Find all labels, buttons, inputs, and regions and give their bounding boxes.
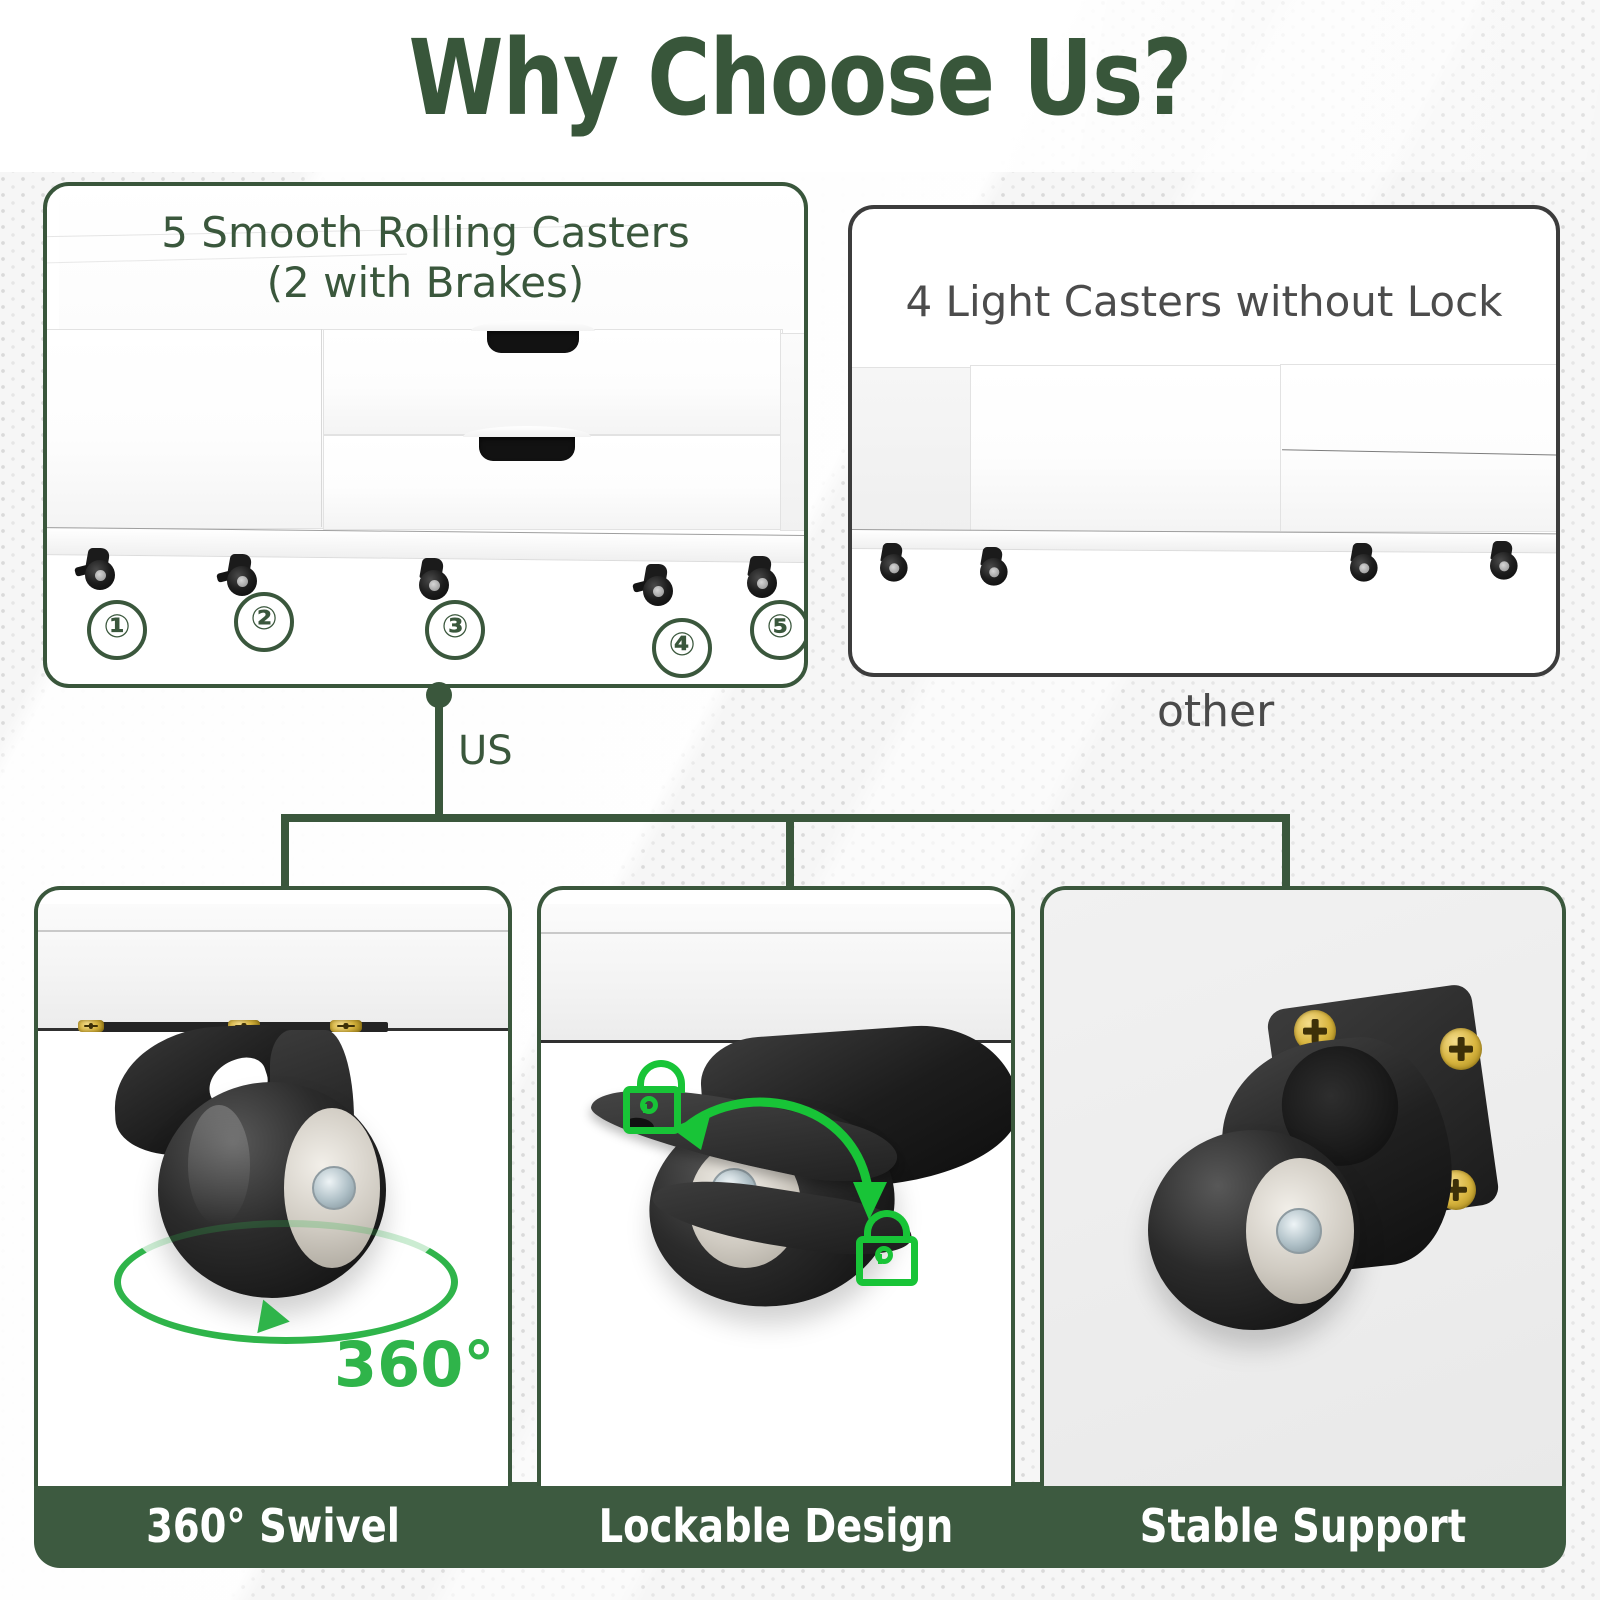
furniture-underside (34, 904, 512, 1031)
other-comparison-panel: 4 Light Casters without Lock (848, 205, 1560, 677)
swivel-degree-label: 360° (334, 1328, 494, 1401)
swivel-wheel-axle (312, 1166, 356, 1210)
feature-caption-swivel: 360° Swivel (51, 1496, 496, 1556)
feature-caption-lockable: Lockable Design (554, 1496, 999, 1556)
caster-badge-1: ① (87, 600, 147, 660)
other-cabinet-right-body (1280, 364, 1560, 532)
caster-badge-4: ④ (652, 618, 712, 678)
other-cabinet-plinth (848, 529, 1560, 553)
connector-stem-vertical (435, 690, 443, 818)
us-panel-heading: 5 Smooth Rolling Casters (2 with Brakes) (47, 208, 804, 307)
plate-screw-top-right (1440, 1028, 1482, 1070)
caster-badge-5: ⑤ (750, 600, 808, 660)
other-cabinet-body (970, 365, 1284, 532)
furniture-edge-line-2 (537, 932, 1015, 934)
stable-wheel-axle (1276, 1208, 1322, 1254)
cabinet-divider (321, 329, 322, 527)
us-heading-line-2: (2 with Brakes) (47, 258, 804, 308)
feature-panel-lockable (537, 886, 1015, 1486)
other-cabinet-left-side (848, 367, 974, 532)
connector-branch-middle (786, 814, 794, 894)
other-panel-heading: 4 Light Casters without Lock (852, 277, 1556, 327)
feature-caption-stable: Stable Support (1058, 1496, 1547, 1556)
us-comparison-panel: 5 Smooth Rolling Casters (2 with Brakes)… (43, 182, 808, 688)
drawer-handle-top (487, 329, 579, 353)
feature-panel-swivel: 360° (34, 886, 512, 1486)
connector-branch-right (1282, 814, 1290, 894)
us-heading-line-1: 5 Smooth Rolling Casters (47, 208, 804, 258)
caster-badge-3: ③ (425, 600, 485, 660)
swivel-arrow-icon (257, 1300, 292, 1339)
page-title: Why Choose Us? (64, 24, 1536, 133)
feature-panel-stable (1040, 886, 1566, 1486)
mount-screw-right (330, 1020, 362, 1032)
lock-curved-arrow-icon (641, 1070, 931, 1300)
furniture-underside-2 (537, 904, 1015, 1043)
us-side-label: US (458, 728, 513, 774)
tyre-highlight (188, 1105, 250, 1225)
caster-badge-2: ② (234, 592, 294, 652)
drawer-handle-bottom (479, 435, 575, 461)
mount-screw-left (78, 1020, 104, 1032)
other-side-label: other (1157, 686, 1274, 737)
cabinet-side-panel (780, 333, 808, 531)
furniture-edge-line (34, 930, 512, 932)
connector-branch-left (281, 814, 289, 894)
